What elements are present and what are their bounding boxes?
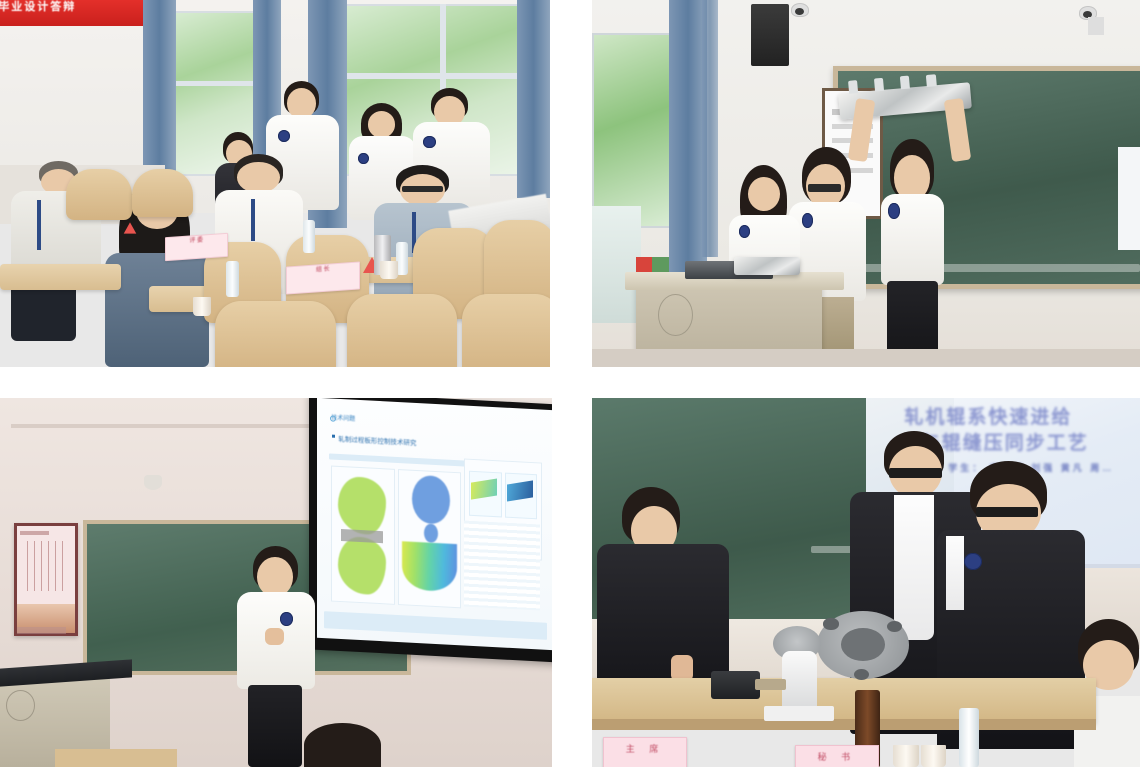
- part-demonstration-scene: [592, 0, 1140, 367]
- audience-head-foreground: [304, 723, 381, 767]
- paper-cup-2: [380, 261, 399, 279]
- floor-strip: [592, 349, 1140, 367]
- temperature-field-plot: [403, 541, 458, 592]
- paper-cup-1: [193, 297, 212, 315]
- red-marker-box: [636, 257, 652, 272]
- chair-row-back-1: [66, 169, 132, 220]
- slide-footer-band: [325, 611, 548, 639]
- judge-1-legs: [11, 281, 76, 341]
- desk-foreground: [55, 749, 176, 767]
- green-marker-box: [652, 257, 668, 272]
- name-placard-1: 组 长: [286, 262, 360, 295]
- presenter-hands: [265, 628, 284, 646]
- photo-collage-sheet: 毕业设计答辩: [0, 0, 1140, 767]
- paper-cup-2: [921, 745, 946, 767]
- bending-man-hand: [671, 655, 692, 682]
- chair-row-back-2: [132, 169, 193, 217]
- water-bottle-2: [303, 220, 315, 253]
- placard-2-text: 评 委: [166, 234, 227, 247]
- wall-poster-frame: [14, 523, 78, 636]
- projected-title-line-1: 轧机辊系快速进给: [904, 402, 1072, 429]
- right-man-glasses: [976, 507, 1038, 517]
- chair-foreground-2: [347, 294, 457, 367]
- desk-mid-left: [0, 264, 121, 290]
- water-bottle: [959, 708, 979, 767]
- camera-mount: [1088, 17, 1104, 35]
- placard-chair-text: 主 席: [604, 738, 686, 755]
- window-mullion-1: [171, 81, 259, 86]
- name-placard-2: 评 委: [165, 233, 228, 261]
- photo-bottom-right[interactable]: 轧机辊系快速进给 与辊缝压同步工艺 学生： 李子轩 刘强 黄凡 周…: [592, 398, 1140, 767]
- poster-label: [17, 627, 67, 634]
- paper-cup-1: [893, 745, 918, 767]
- triangle-marker-2: [124, 223, 137, 234]
- placard-secretary-text: 秘 书: [796, 746, 878, 763]
- photo-bottom-left[interactable]: 技术问题 轧制过程板形控制技术研究: [0, 398, 552, 767]
- classroom-audience-scene: 毕业设计答辩: [0, 0, 550, 367]
- curtain-edge: [702, 0, 718, 257]
- banner-text: 毕业设计答辩: [0, 0, 76, 14]
- lectern-emblem: [6, 690, 36, 722]
- whiteboard-panel-right: [1118, 147, 1140, 250]
- presenter-trousers: [248, 685, 302, 767]
- slide-presentation-scene: 技术问题 轧制过程板形控制技术研究: [0, 398, 552, 767]
- judge-3-glasses: [402, 186, 444, 192]
- right-man-shirt: [946, 536, 964, 611]
- curtain-d: [517, 0, 550, 198]
- slide-subtitle: 轧制过程板形控制技术研究: [339, 432, 417, 446]
- security-camera-icon: [792, 4, 808, 16]
- judge-1-lanyard: [37, 200, 41, 249]
- podium-student-glasses: [808, 184, 842, 192]
- hardware-review-scene: 轧机辊系快速进给 与辊缝压同步工艺 学生： 李子轩 刘强 黄凡 周…: [592, 398, 1140, 767]
- wall-speaker-icon: [751, 4, 789, 66]
- lectern-emblem: [658, 294, 693, 336]
- roll-gap-band: [341, 528, 384, 542]
- window-open: [592, 33, 673, 228]
- name-placard-secretary: 秘 书: [795, 745, 879, 767]
- name-placard-chair: 主 席: [603, 737, 687, 767]
- ceiling-rail: [11, 424, 342, 428]
- judge-2-lanyard: [251, 199, 255, 241]
- window-glass-lower: [592, 206, 641, 323]
- photo-top-right[interactable]: [592, 0, 1140, 367]
- right-man-badge: [964, 553, 982, 570]
- presenting-student: [237, 546, 314, 767]
- placard-1-text: 组 长: [287, 263, 359, 277]
- red-banner: 毕业设计答辩: [0, 0, 143, 26]
- chair-foreground-3: [462, 294, 550, 367]
- second-part-on-lectern: [734, 257, 800, 275]
- projection-screen: 技术问题 轧制过程板形控制技术研究: [317, 398, 552, 650]
- photo-top-left[interactable]: 毕业设计答辩: [0, 0, 550, 367]
- chair-foreground-1: [215, 301, 336, 367]
- center-man-glasses: [889, 468, 942, 479]
- water-bottle-1: [226, 261, 239, 298]
- student-holding-part: [877, 139, 948, 367]
